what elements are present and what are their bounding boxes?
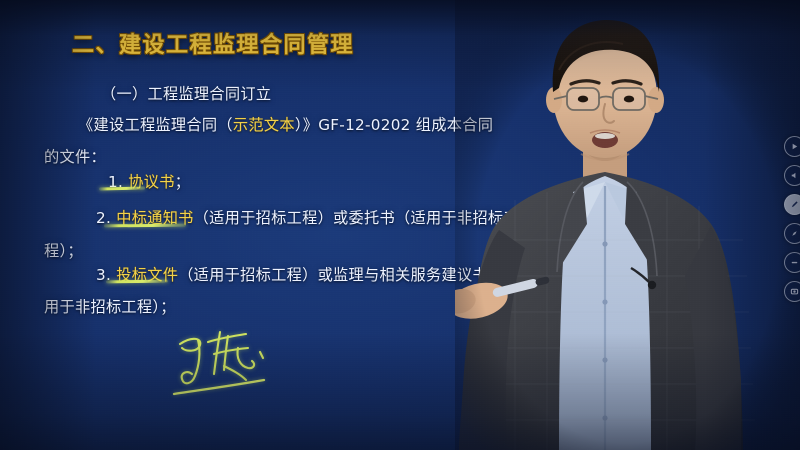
doc-line-highlight: 示范文本	[233, 116, 295, 134]
pen-icon[interactable]	[784, 194, 800, 215]
slide-doc-line: 《建设工程监理合同（示范文本）》GF-12-0202 组成本合同	[78, 113, 493, 135]
right-toolbar[interactable]	[784, 136, 800, 302]
slide-list-item-continuation: 程）；	[44, 239, 83, 261]
presenter	[455, 0, 800, 450]
slide-list-item-continuation: 用于非招标工程）；	[44, 295, 176, 317]
handwritten-annotation	[168, 318, 304, 400]
capture-icon[interactable]	[784, 281, 800, 302]
doc-line-pre: 《建设工程监理合同（	[78, 116, 233, 134]
slide-doc-line-cont: 的文件：	[44, 145, 106, 167]
minus-circle-icon[interactable]	[784, 252, 800, 273]
compass-icon[interactable]	[784, 223, 800, 244]
video-frame: 二、建设工程监理合同管理 （一）工程监理合同订立 《建设工程监理合同（示范文本）…	[0, 0, 800, 450]
volume-icon[interactable]	[784, 165, 800, 186]
list-item-rest: ；	[175, 173, 191, 191]
slide-subheading: （一）工程监理合同订立	[101, 82, 271, 104]
play-circle-icon[interactable]	[784, 136, 800, 157]
slide-title: 二、建设工程监理合同管理	[72, 27, 354, 59]
